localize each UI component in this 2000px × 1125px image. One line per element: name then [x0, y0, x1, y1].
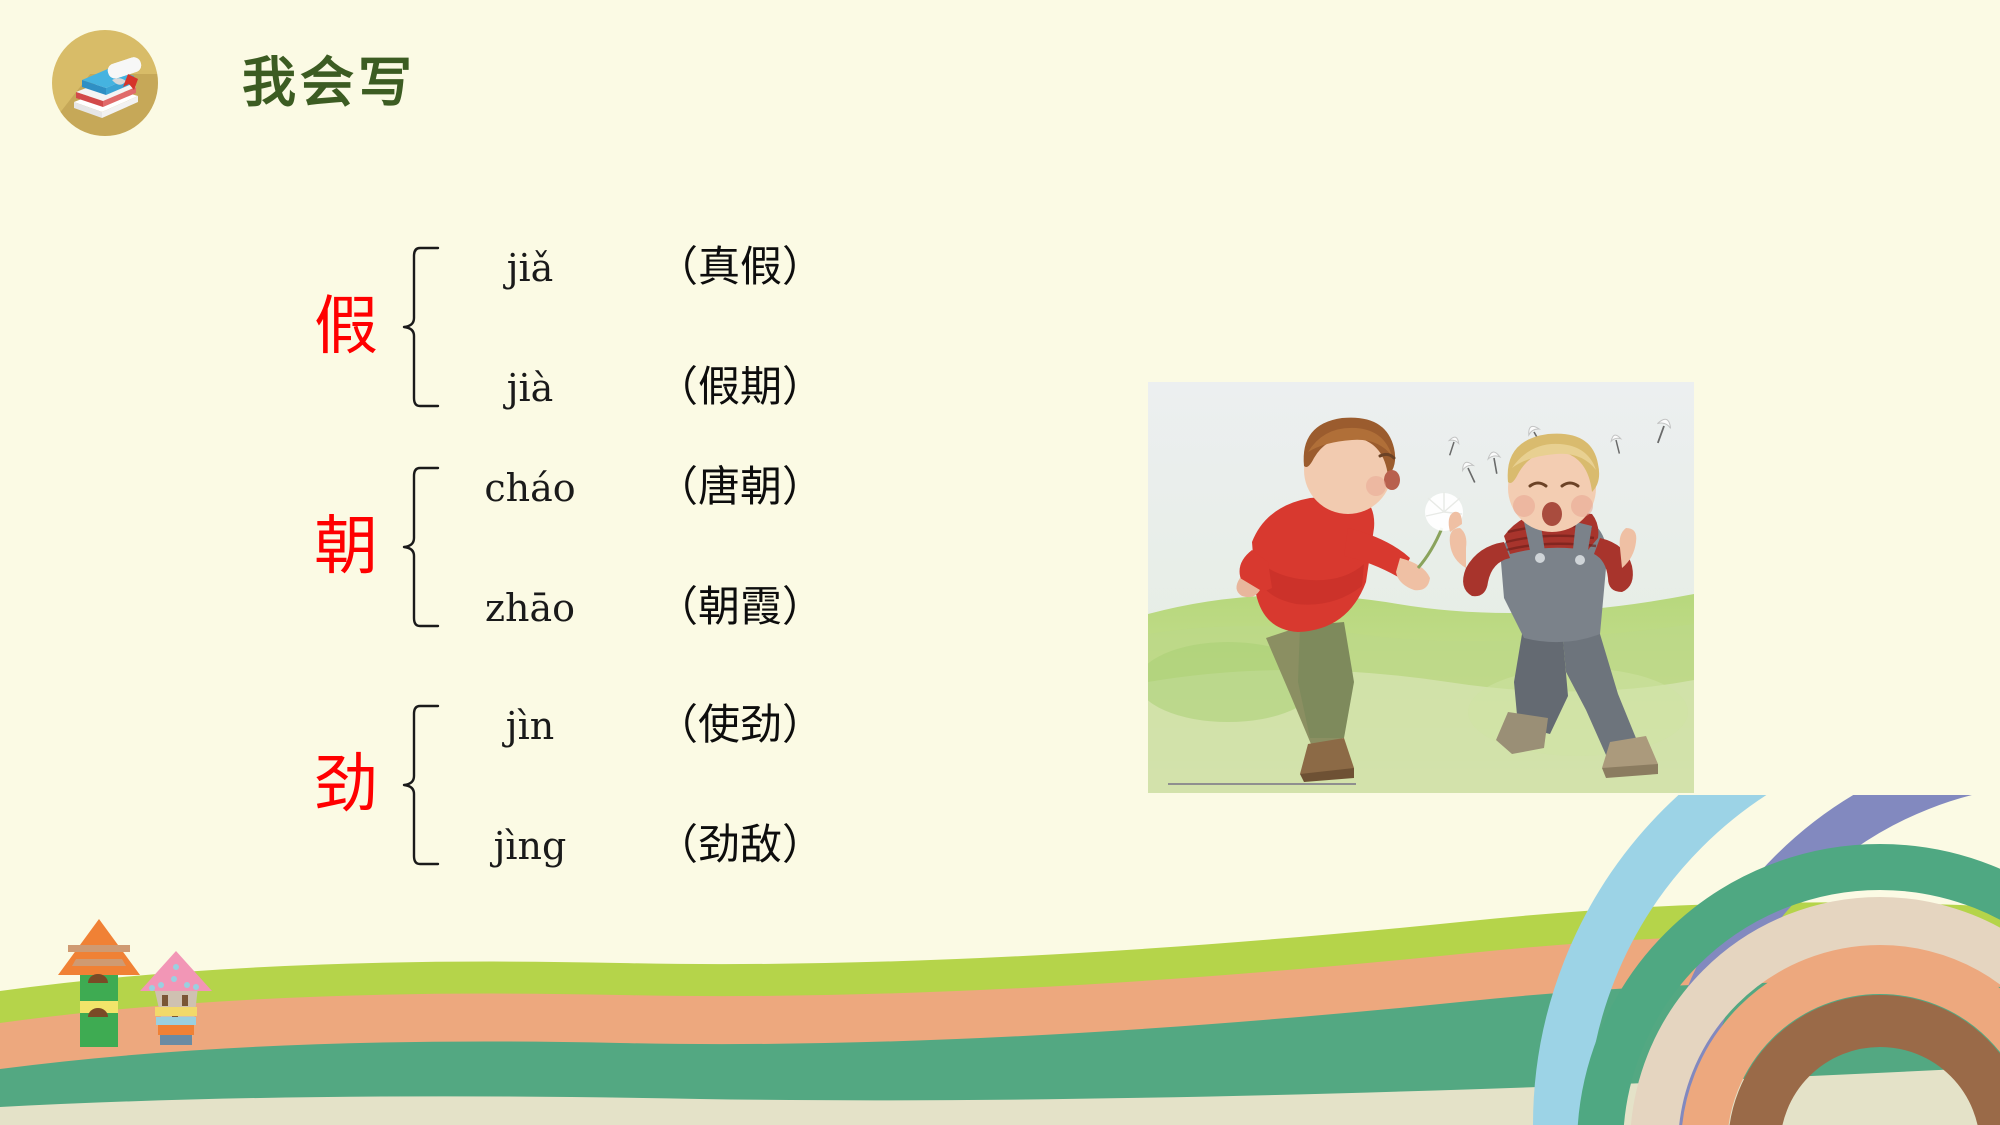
cartoon-houses-decoration	[46, 913, 236, 1063]
brace-icon	[396, 462, 440, 632]
readings-list: jìn （使劲） jìng （劲敌）	[450, 700, 1020, 870]
pinyin-text: jià	[450, 369, 610, 407]
brace-icon	[396, 242, 440, 412]
slide-header: 我会写	[52, 30, 416, 136]
pinyin-text: jìng	[450, 827, 610, 865]
readings-list: cháo （唐朝） zhāo （朝霞）	[450, 462, 1020, 632]
books-diploma-icon	[52, 30, 158, 136]
reading-row: jìn （使劲）	[450, 704, 1020, 746]
reading-row: jiǎ （真假）	[450, 246, 1020, 288]
example-word: （真假）	[656, 246, 824, 288]
character-group: 劲 jìn （使劲） jìng （劲敌）	[300, 690, 1020, 880]
example-word: （朝霞）	[656, 586, 824, 628]
house-pink	[140, 951, 212, 1045]
page-title: 我会写	[242, 56, 416, 110]
character-groups: 假 jiǎ （真假） jià （假期） 朝	[300, 232, 1020, 880]
pinyin-text: cháo	[450, 469, 610, 507]
reading-row: cháo （唐朝）	[450, 466, 1020, 508]
group-character: 朝	[300, 515, 392, 579]
slide-root: 我会写 假 jiǎ （真假） jià （假期）	[0, 0, 2000, 1125]
group-character: 假	[300, 295, 392, 359]
pinyin-text: jiǎ	[450, 249, 610, 287]
pinyin-text: zhāo	[450, 589, 610, 627]
reading-row: zhāo （朝霞）	[450, 586, 1020, 628]
example-word: （唐朝）	[656, 466, 824, 508]
example-word: （劲敌）	[656, 824, 824, 866]
pinyin-text: jìn	[450, 707, 610, 745]
corner-rainbow-arcs	[1560, 795, 2000, 1125]
group-character: 劲	[300, 753, 392, 817]
brace-icon	[396, 700, 440, 870]
character-group: 朝 cháo （唐朝） zhāo （朝霞）	[300, 452, 1020, 642]
readings-list: jiǎ （真假） jià （假期）	[450, 242, 1020, 412]
two-boys-dandelion-illustration	[1148, 382, 1694, 793]
reading-row: jìng （劲敌）	[450, 824, 1020, 866]
example-word: （假期）	[656, 366, 824, 408]
character-group: 假 jiǎ （真假） jià （假期）	[300, 232, 1020, 422]
house-green	[58, 919, 140, 1047]
reading-row: jià （假期）	[450, 366, 1020, 408]
example-word: （使劲）	[656, 704, 824, 746]
